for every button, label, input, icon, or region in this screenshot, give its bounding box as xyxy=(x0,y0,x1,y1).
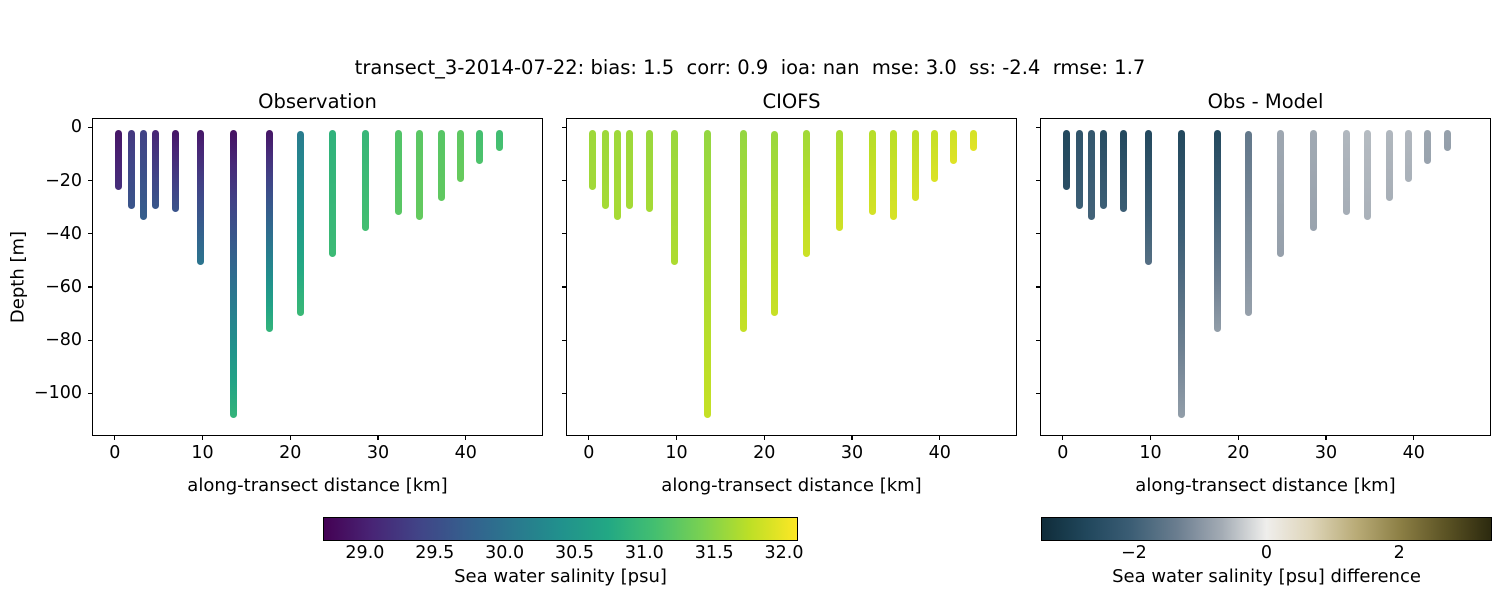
profile-column xyxy=(152,130,159,209)
profile-column xyxy=(970,130,977,150)
x-tick-mark xyxy=(676,436,677,440)
profile-column xyxy=(869,130,876,214)
colorbar-label-salinity: Sea water salinity [psu] xyxy=(323,565,798,589)
colorbar-salinity[interactable] xyxy=(323,517,798,541)
profile-column xyxy=(1178,130,1185,418)
colorbar-tick-label: 31.5 xyxy=(679,543,749,563)
profile-column xyxy=(457,130,464,181)
x-tick-mark xyxy=(1325,436,1326,440)
colorbar-tick-label: −2 xyxy=(1099,543,1169,563)
profile-column xyxy=(1386,130,1393,201)
x-tick-mark xyxy=(465,436,466,440)
y-tick-label: 0 xyxy=(12,117,82,137)
profile-column xyxy=(172,130,179,212)
y-tick-mark xyxy=(1036,180,1040,181)
colorbar-tick-label: 30.0 xyxy=(470,543,540,563)
y-tick-mark xyxy=(562,393,566,394)
profile-column xyxy=(771,131,778,316)
x-tick-label: 0 xyxy=(559,443,619,463)
profile-column xyxy=(836,130,843,230)
profile-column xyxy=(362,130,369,230)
colorbar-tick-label: 30.5 xyxy=(539,543,609,563)
y-tick-mark xyxy=(88,233,92,234)
profile-column xyxy=(1310,130,1317,230)
x-axis-label: along-transect distance [km] xyxy=(566,474,1017,498)
x-tick-label: 30 xyxy=(1296,443,1356,463)
profile-column xyxy=(1424,130,1431,164)
x-tick-mark xyxy=(764,436,765,440)
colorbar-tick-label: 29.5 xyxy=(400,543,470,563)
y-tick-mark xyxy=(562,180,566,181)
profile-column xyxy=(1120,130,1127,212)
profile-column xyxy=(438,130,445,201)
x-tick-label: 30 xyxy=(822,443,882,463)
colorbar-tick-label: 29.0 xyxy=(330,543,400,563)
profile-column xyxy=(416,130,423,220)
y-tick-mark xyxy=(88,393,92,394)
profile-column xyxy=(1214,130,1221,332)
x-tick-label: 20 xyxy=(734,443,794,463)
y-axis-label: Depth [m] xyxy=(8,231,29,323)
profile-column xyxy=(476,130,483,164)
x-tick-mark xyxy=(1150,436,1151,440)
x-tick-mark xyxy=(1238,436,1239,440)
profile-column xyxy=(671,130,678,265)
x-axis-label: along-transect distance [km] xyxy=(92,474,543,498)
y-tick-mark xyxy=(1036,233,1040,234)
x-tick-label: 10 xyxy=(647,443,707,463)
x-tick-label: 20 xyxy=(1208,443,1268,463)
y-tick-label: −80 xyxy=(12,330,82,350)
profile-column xyxy=(912,130,919,201)
profile-column xyxy=(1245,131,1252,316)
x-axis-label: along-transect distance [km] xyxy=(1040,474,1491,498)
x-tick-label: 0 xyxy=(1033,443,1093,463)
y-tick-mark xyxy=(1036,340,1040,341)
colorbar-tick-label: 31.0 xyxy=(609,543,679,563)
y-tick-mark xyxy=(1036,393,1040,394)
profile-column xyxy=(589,130,596,190)
x-tick-label: 0 xyxy=(85,443,145,463)
x-tick-label: 20 xyxy=(260,443,320,463)
x-tick-mark xyxy=(851,436,852,440)
y-tick-mark xyxy=(88,127,92,128)
figure-canvas: transect_3-2014-07-22: bias: 1.5 corr: 0… xyxy=(0,0,1500,600)
profile-column xyxy=(803,130,810,257)
profile-column xyxy=(740,130,747,332)
y-tick-mark xyxy=(1036,286,1040,287)
profile-column xyxy=(1076,130,1083,209)
panel-title-observation: Observation xyxy=(92,89,543,115)
x-tick-label: 40 xyxy=(1384,443,1444,463)
x-tick-label: 30 xyxy=(348,443,408,463)
profile-column xyxy=(266,130,273,332)
profile-column xyxy=(230,130,237,418)
x-tick-mark xyxy=(1062,436,1063,440)
y-tick-mark xyxy=(1036,127,1040,128)
y-tick-label: −100 xyxy=(12,383,82,403)
profile-column xyxy=(614,130,621,220)
y-tick-mark xyxy=(562,340,566,341)
profile-column xyxy=(115,130,122,190)
x-tick-label: 10 xyxy=(173,443,233,463)
profile-column xyxy=(329,130,336,257)
y-tick-label: −20 xyxy=(12,171,82,191)
y-tick-mark xyxy=(562,127,566,128)
x-tick-mark xyxy=(588,436,589,440)
x-tick-label: 40 xyxy=(436,443,496,463)
profile-column xyxy=(646,130,653,212)
profile-column xyxy=(1343,130,1350,214)
profile-column xyxy=(1405,130,1412,181)
profile-column xyxy=(297,131,304,316)
x-tick-mark xyxy=(114,436,115,440)
profile-column xyxy=(1100,130,1107,209)
profile-column xyxy=(626,130,633,209)
panel-title-difference: Obs - Model xyxy=(1040,89,1491,115)
profile-column xyxy=(704,130,711,418)
y-tick-mark xyxy=(88,180,92,181)
y-tick-mark xyxy=(562,233,566,234)
profile-column xyxy=(1063,130,1070,190)
profiles-ciofs xyxy=(567,119,1016,435)
colorbar-salinity-difference[interactable] xyxy=(1041,517,1492,541)
profile-column xyxy=(890,130,897,220)
profiles-difference xyxy=(1041,119,1490,435)
plot-panel-observation[interactable] xyxy=(92,118,543,436)
profile-column xyxy=(1444,130,1451,150)
colorbar-label-salinity-difference: Sea water salinity [psu] difference xyxy=(1041,565,1492,589)
profile-column xyxy=(1277,130,1284,257)
profile-column xyxy=(128,130,135,209)
x-tick-mark xyxy=(290,436,291,440)
x-tick-label: 40 xyxy=(910,443,970,463)
y-tick-mark xyxy=(88,340,92,341)
colorbar-tick-label: 32.0 xyxy=(749,543,819,563)
profile-column xyxy=(197,130,204,265)
profile-column xyxy=(950,130,957,164)
profiles-observation xyxy=(93,119,542,435)
x-tick-label: 10 xyxy=(1121,443,1181,463)
profile-column xyxy=(1145,130,1152,265)
suptitle-line-1: transect_3-2014-07-22: bias: 1.5 corr: 0… xyxy=(0,55,1500,81)
x-tick-mark xyxy=(1413,436,1414,440)
y-tick-mark xyxy=(88,286,92,287)
x-tick-mark xyxy=(377,436,378,440)
colorbar-tick-label: 0 xyxy=(1232,543,1302,563)
profile-column xyxy=(140,130,147,220)
profile-column xyxy=(1088,130,1095,220)
profile-column xyxy=(1364,130,1371,220)
x-tick-mark xyxy=(939,436,940,440)
y-tick-mark xyxy=(562,286,566,287)
profile-column xyxy=(496,130,503,150)
profile-column xyxy=(931,130,938,181)
panel-title-ciofs: CIOFS xyxy=(566,89,1017,115)
profile-column xyxy=(602,130,609,209)
colorbar-tick-label: 2 xyxy=(1364,543,1434,563)
x-tick-mark xyxy=(202,436,203,440)
plot-panel-ciofs[interactable] xyxy=(566,118,1017,436)
plot-panel-difference[interactable] xyxy=(1040,118,1491,436)
profile-column xyxy=(395,130,402,214)
